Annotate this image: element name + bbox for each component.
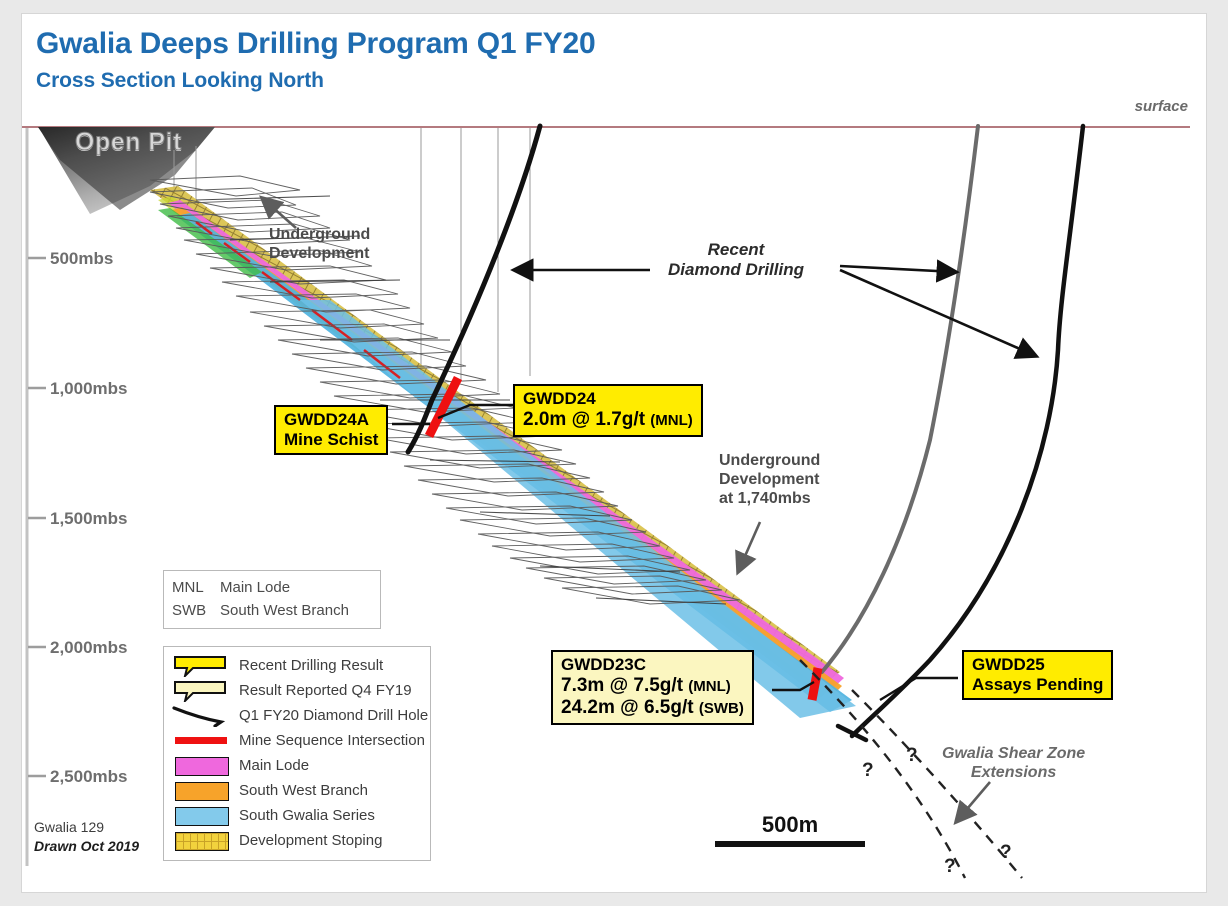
- callout-gwdd23c-hole: GWDD23C: [561, 655, 744, 675]
- legend-item-main-lode: Main Lode: [171, 753, 423, 778]
- ug-development-1740-line1: Underground: [719, 452, 820, 471]
- callout-gwdd24[interactable]: GWDD24 2.0m @ 1.7g/t (MNL): [513, 384, 703, 437]
- recent-diamond-drilling-line1: Recent: [668, 240, 804, 260]
- legend-label-south-gwalia-series: South Gwalia Series: [239, 807, 375, 824]
- legend-item-drill-hole: Q1 FY20 Diamond Drill Hole: [171, 703, 423, 728]
- underground-development-label-line2: Development: [269, 245, 370, 264]
- abbrev-label-swb: South West Branch: [220, 600, 349, 623]
- callout-pale-icon: [171, 680, 233, 702]
- underground-development-label-line1: Underground: [269, 226, 370, 245]
- callout-gwdd25-hole: GWDD25: [972, 655, 1103, 675]
- shear-zone-line1: Gwalia Shear Zone: [942, 745, 1085, 764]
- callout-bright-icon: [171, 655, 233, 677]
- abbrev-key-swb: SWB: [172, 600, 220, 623]
- callout-gwdd24-value: 2.0m @ 1.7g/t: [523, 409, 645, 430]
- abbrev-row-swb: SWB South West Branch: [172, 600, 372, 623]
- legend-item-mine-sequence-intersection: Mine Sequence Intersection: [171, 728, 423, 753]
- legend-item-south-west-branch: South West Branch: [171, 778, 423, 803]
- callout-gwdd23c-value-2: 24.2m @ 6.5g/t: [561, 697, 694, 718]
- callout-gwdd25[interactable]: GWDD25 Assays Pending: [962, 650, 1113, 700]
- depth-tick-2000: 2,000mbs: [50, 638, 128, 658]
- abbrev-row-mnl: MNL Main Lode: [172, 577, 372, 600]
- drill-hole-icon: [171, 705, 233, 727]
- scale-bar-line: [715, 841, 865, 847]
- callout-gwdd24a[interactable]: GWDD24A Mine Schist: [274, 405, 388, 455]
- legend-label-result-reported: Result Reported Q4 FY19: [239, 682, 412, 699]
- red-bar-icon: [171, 730, 233, 752]
- callout-gwdd23c-unit-2: (SWB): [699, 700, 744, 717]
- legend-item-south-gwalia-series: South Gwalia Series: [171, 803, 423, 828]
- callout-gwdd23c-result-2: 24.2m @ 6.5g/t (SWB): [561, 697, 744, 719]
- shear-zone-label: Gwalia Shear Zone Extensions: [942, 745, 1085, 783]
- page-frame: Gwalia Deeps Drilling Program Q1 FY20 Cr…: [0, 0, 1228, 906]
- legend-item-development-stoping: Development Stoping: [171, 828, 423, 853]
- callout-gwdd23c[interactable]: GWDD23C 7.3m @ 7.5g/t (MNL) 24.2m @ 6.5g…: [551, 650, 754, 725]
- depth-tick-1500: 1,500mbs: [50, 509, 128, 529]
- depth-tick-500: 500mbs: [50, 249, 113, 269]
- abbrev-key-mnl: MNL: [172, 577, 220, 600]
- legend-item-result-reported: Result Reported Q4 FY19: [171, 678, 423, 703]
- callout-gwdd24a-hole: GWDD24A: [284, 410, 378, 430]
- underground-development-label: Underground Development: [269, 226, 370, 264]
- scale-bar-label: 500m: [715, 812, 865, 838]
- callout-gwdd23c-unit-1: (MNL): [688, 678, 730, 695]
- legend-label-drill-hole: Q1 FY20 Diamond Drill Hole: [239, 707, 428, 724]
- legend-label-mine-sequence-intersection: Mine Sequence Intersection: [239, 732, 425, 749]
- ug-development-1740-line2: Development: [719, 471, 820, 490]
- callout-gwdd24a-note: Mine Schist: [284, 430, 378, 450]
- surface-label: surface: [1135, 98, 1188, 115]
- legend-label-development-stoping: Development Stoping: [239, 832, 382, 849]
- abbreviation-legend: MNL Main Lode SWB South West Branch: [163, 570, 381, 629]
- depth-tick-1000: 1,000mbs: [50, 379, 128, 399]
- footer: Gwalia 129 Drawn Oct 2019: [34, 818, 139, 856]
- footer-line-2: Drawn Oct 2019: [34, 837, 139, 856]
- ug-development-1740-label: Underground Development at 1,740mbs: [719, 452, 820, 509]
- development-stoping-swatch-icon: [171, 830, 233, 852]
- callout-gwdd23c-value-1: 7.3m @ 7.5g/t: [561, 675, 683, 696]
- recent-diamond-drilling-label: Recent Diamond Drilling: [668, 240, 804, 280]
- main-lode-swatch-icon: [171, 755, 233, 777]
- callout-gwdd24-hole: GWDD24: [523, 389, 693, 409]
- legend-label-south-west-branch: South West Branch: [239, 782, 368, 799]
- south-west-branch-swatch-icon: [171, 780, 233, 802]
- recent-diamond-drilling-line2: Diamond Drilling: [668, 260, 804, 280]
- legend-item-recent-drilling-result: Recent Drilling Result: [171, 653, 423, 678]
- scale-bar: 500m: [715, 812, 865, 847]
- shear-zone-line2: Extensions: [942, 764, 1085, 783]
- footer-line-1: Gwalia 129: [34, 818, 139, 837]
- south-gwalia-series-swatch-icon: [171, 805, 233, 827]
- map-legend: Recent Drilling Result Result Reported Q…: [163, 646, 431, 861]
- open-pit-label: Open Pit: [75, 128, 182, 157]
- ug-development-1740-line3: at 1,740mbs: [719, 490, 820, 509]
- legend-label-main-lode: Main Lode: [239, 757, 309, 774]
- legend-label-recent-drilling-result: Recent Drilling Result: [239, 657, 383, 674]
- callout-gwdd25-note: Assays Pending: [972, 675, 1103, 695]
- depth-axis-ticks: [28, 258, 46, 776]
- callout-gwdd23c-result-1: 7.3m @ 7.5g/t (MNL): [561, 675, 744, 697]
- abbrev-label-mnl: Main Lode: [220, 577, 290, 600]
- depth-tick-2500: 2,500mbs: [50, 767, 128, 787]
- callout-gwdd24-result: 2.0m @ 1.7g/t (MNL): [523, 409, 693, 431]
- callout-gwdd24-unit: (MNL): [650, 412, 692, 429]
